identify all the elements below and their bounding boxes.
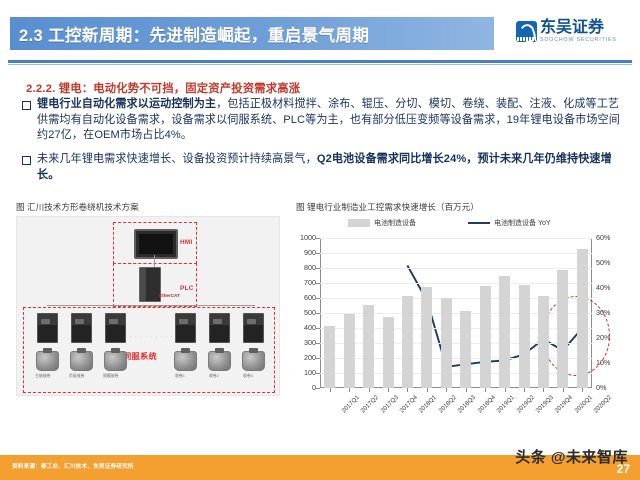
device-label: 收卷1 <box>175 373 185 379</box>
battery-equipment-chart: 电池制造设备 电池制造设备 YoY 0100200300400500600700… <box>292 216 632 416</box>
legend-item-bars: 电池制造设备 <box>348 218 416 228</box>
y-tick <box>316 298 320 299</box>
x-tick <box>524 388 525 392</box>
bullet-item: 锂电行业自动化需求以运动控制为主，包括正极材料搅拌、涂布、辊压、分切、模切、卷绕… <box>22 97 626 144</box>
chart-bar <box>421 287 432 388</box>
bullet-text: 锂电行业自动化需求以运动控制为主，包括正极材料搅拌、涂布、辊压、分切、模切、卷绕… <box>37 97 626 144</box>
servo-motor-icon <box>104 351 127 371</box>
gridline <box>320 238 592 239</box>
x-axis-tick-label: 2019Q1 <box>496 394 517 415</box>
chart-bar <box>441 298 452 388</box>
soochow-logo-icon <box>516 21 537 42</box>
x-tick <box>582 388 583 392</box>
x-tick <box>466 388 467 392</box>
slide-title-bar: 2.3 工控新周期：先进制造崛起，重启景气周期 <box>10 17 494 50</box>
bullet-square-icon <box>22 101 31 110</box>
company-logo: 东吴证券 SOOCHOW SECURITIES <box>516 20 617 43</box>
bullet-text: 未来几年锂电需求快速增长、设备投资预计持续高景气，Q2电池设备需求同比增长24%… <box>37 152 626 183</box>
x-axis-tick-label: 2020Q2 <box>593 394 614 415</box>
servo-drive-icon <box>37 313 58 343</box>
y-tick <box>316 328 320 329</box>
header-divider <box>8 60 632 63</box>
hmi-panel-icon <box>134 229 178 259</box>
legend-swatch-line <box>468 222 490 224</box>
x-axis-tick-label: 2019Q2 <box>515 394 536 415</box>
device-label: 隔膜放卷 <box>103 373 119 379</box>
x-tick <box>407 388 408 392</box>
slide-header: 2.3 工控新周期：先进制造崛起，重启景气周期 东吴证券 SOOCHOW SEC… <box>0 0 640 64</box>
servo-motor-icon <box>70 351 93 371</box>
chart-plot-area: 2017Q12017Q22017Q32017Q42018Q12018Q22018… <box>320 238 592 388</box>
y-axis-tick-label: 300 <box>292 338 316 347</box>
x-tick <box>505 388 506 392</box>
gridline <box>320 358 592 359</box>
y-tick <box>316 388 320 389</box>
y-axis-right-tick-label: 50% <box>596 258 622 267</box>
gridline <box>320 343 592 344</box>
servo-drive-icon <box>209 313 230 343</box>
chart-bar <box>402 296 413 388</box>
gridline <box>320 328 592 329</box>
chart-bar <box>519 285 530 388</box>
x-axis-tick-label: 2018Q4 <box>476 394 497 415</box>
device-label: 收卷2 <box>209 373 219 379</box>
bullet-lead: 锂电行业自动化需求以运动控制为主 <box>37 98 216 110</box>
x-axis-tick-label: 2017Q2 <box>360 394 381 415</box>
winding-machine-diagram: EtherCAT HMI PLC 伺服系统 · · · · · · · · · … <box>16 216 280 396</box>
y-tick <box>316 343 320 344</box>
x-axis-tick-label: 2018Q1 <box>418 394 439 415</box>
chart-bar <box>480 286 491 388</box>
chart-bar <box>383 317 394 388</box>
plc-module-icon <box>139 267 161 302</box>
device-label: 主轴放卷 <box>35 373 51 379</box>
y-tick <box>316 268 320 269</box>
device-label: 收卷3 <box>243 373 253 379</box>
x-tick <box>485 388 486 392</box>
plc-label: PLC <box>180 285 194 292</box>
x-tick <box>330 388 331 392</box>
x-tick <box>388 388 389 392</box>
y-axis-tick-label: 0 <box>292 383 316 392</box>
servo-drive-icon <box>243 313 264 343</box>
y-tick <box>316 283 320 284</box>
servo-motor-icon <box>174 351 197 371</box>
x-axis-tick-label: 2017Q3 <box>379 394 400 415</box>
y-tick <box>316 358 320 359</box>
chart-legend: 电池制造设备 电池制造设备 YoY <box>320 218 592 232</box>
y-axis-tick-label: 700 <box>292 278 316 287</box>
chart-bar <box>577 249 588 388</box>
gridline <box>320 373 592 374</box>
y-axis-right-tick-label: 40% <box>596 283 622 292</box>
servo-drive-icon <box>105 313 126 343</box>
logo-name-cn: 东吴证券 <box>540 20 617 36</box>
x-axis-tick-label: 2017Q1 <box>340 394 361 415</box>
y-axis-right-tick-label: 60% <box>596 233 622 242</box>
connector-bus-line <box>47 305 255 306</box>
servo-system-label: 伺服系统 <box>123 350 157 362</box>
y-axis-right-tick-label: 0% <box>596 383 622 392</box>
bullet-square-icon <box>22 156 31 165</box>
legend-item-line: 电池制造设备 YoY <box>468 218 551 228</box>
bullet-item: 未来几年锂电需求快速增长、设备投资预计持续高景气，Q2电池设备需求同比增长24%… <box>22 152 626 183</box>
servo-motor-icon <box>208 351 231 371</box>
x-axis-tick-label: 2019Q4 <box>554 394 575 415</box>
y-axis-tick-label: 600 <box>292 293 316 302</box>
x-axis-tick-label: 2019Q3 <box>534 394 555 415</box>
servo-drive-icon <box>175 313 196 343</box>
x-tick <box>369 388 370 392</box>
servo-motor-icon <box>242 351 265 371</box>
gridline <box>320 313 592 314</box>
chart-bar <box>363 305 374 388</box>
figure-caption-left: 图 汇川技术方形卷绕机技术方案 <box>16 201 139 213</box>
section-subheading: 2.2.2. 锂电：电动化势不可挡，固定资产投资需求高涨 <box>26 80 300 96</box>
chart-bar <box>344 314 355 388</box>
fieldbus-label: EtherCAT <box>159 293 180 298</box>
x-tick <box>543 388 544 392</box>
y-tick <box>316 253 320 254</box>
chart-bar <box>557 270 568 388</box>
bullet-lead: 未来几年锂电需求快速增长、设备投资预计持续高景气， <box>37 153 317 165</box>
y-axis-tick-label: 800 <box>292 263 316 272</box>
gridline <box>320 298 592 299</box>
legend-label: 电池制造设备 <box>374 218 416 228</box>
y-axis-tick-label: 200 <box>292 353 316 362</box>
y-axis-tick-label: 900 <box>292 248 316 257</box>
y-axis-left-labels: 01002003004005006007008009001000 <box>292 238 316 388</box>
y-axis-tick-label: 400 <box>292 323 316 332</box>
chart-bar <box>460 311 471 388</box>
y-axis-tick-label: 1000 <box>292 233 316 242</box>
gridline <box>320 268 592 269</box>
hmi-label: HMI <box>180 239 193 246</box>
ellipsis-dots: · · · · · · · · · · <box>125 334 173 340</box>
x-axis-tick-label: 2017Q4 <box>398 394 419 415</box>
device-label: 负极放卷 <box>69 373 85 379</box>
chart-bar <box>538 296 549 388</box>
logo-name-en: SOOCHOW SECURITIES <box>540 38 617 43</box>
x-tick <box>563 388 564 392</box>
x-tick <box>349 388 350 392</box>
y-tick <box>316 373 320 374</box>
y-axis-tick-label: 100 <box>292 368 316 377</box>
y-tick <box>316 238 320 239</box>
connector-line <box>154 255 155 267</box>
chart-bar <box>324 326 335 388</box>
page-number: 27 <box>617 462 630 476</box>
y-axis-tick-label: 500 <box>292 308 316 317</box>
x-axis-tick-label: 2020Q1 <box>573 394 594 415</box>
legend-swatch-bar <box>348 219 370 227</box>
source-note: 资料来源：泰工业、汇川技术、东吴证券研究所 <box>12 462 134 470</box>
gridline <box>320 283 592 284</box>
x-axis-tick-label: 2018Q2 <box>437 394 458 415</box>
x-tick <box>446 388 447 392</box>
page-title: 2.3 工控新周期：先进制造崛起，重启景气周期 <box>10 22 369 46</box>
header-divider-thin <box>8 64 632 65</box>
y-tick <box>316 313 320 314</box>
x-axis-tick-label: 2018Q3 <box>457 394 478 415</box>
figure-caption-right: 图 锂电行业制造业工控需求快速增长（百万元） <box>296 201 479 213</box>
servo-drive-icon <box>71 313 92 343</box>
chart-bar <box>499 276 510 389</box>
watermark: 头条 @未来智库 <box>515 446 628 467</box>
servo-motor-icon <box>36 351 59 371</box>
x-tick <box>427 388 428 392</box>
gridline <box>320 253 592 254</box>
legend-label: 电池制造设备 YoY <box>494 218 551 228</box>
